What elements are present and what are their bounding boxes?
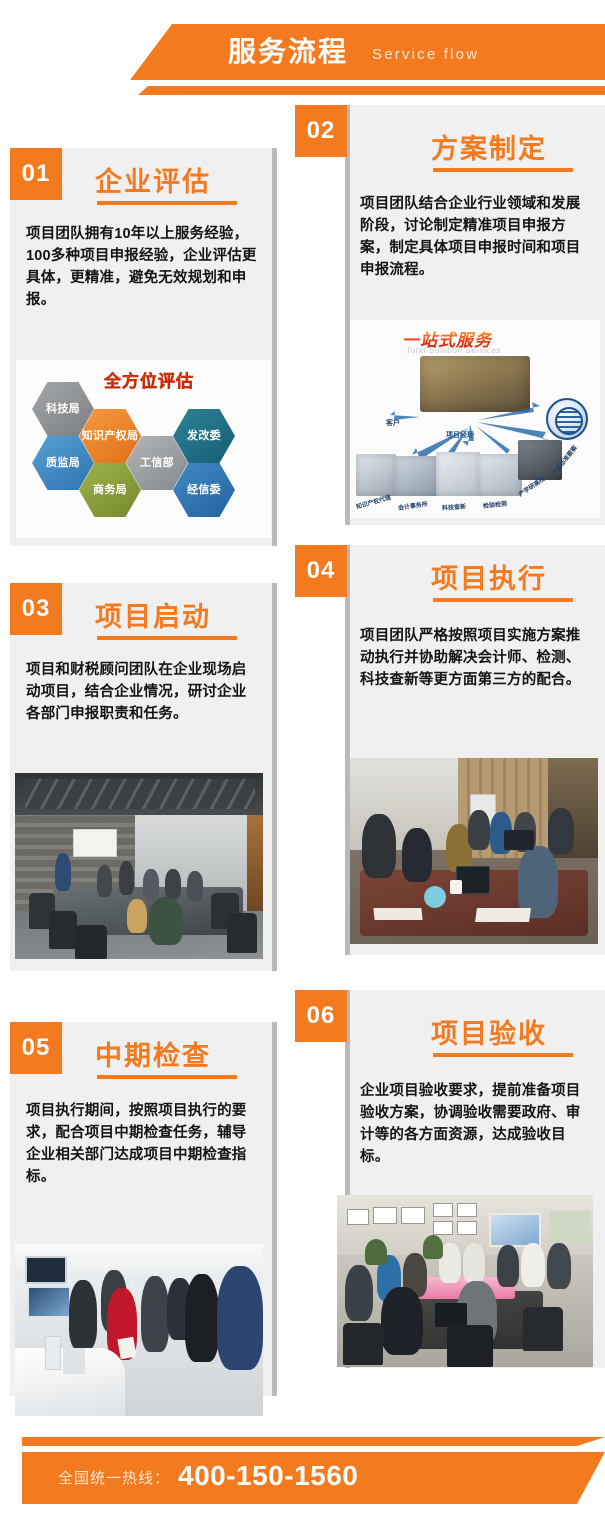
card-04-title-rule: [433, 598, 573, 602]
hex-node-keji-label: 科技局: [46, 403, 80, 415]
card-02-title-rule: [433, 168, 573, 172]
showroom-visit-photo: [15, 1244, 263, 1416]
footer-hotline-label: 全国统一热线：: [58, 1467, 170, 1488]
hex-node-fgw-label: 发改委: [187, 430, 221, 442]
page-title: 服务流程: [228, 33, 348, 71]
one-stop-node-standard-seal: [546, 398, 588, 440]
card-05-body: 项目执行期间，按照项目执行的要求，配合项目中期检查任务，辅导企业相关部门达成项目…: [26, 1100, 258, 1188]
card-02-number-badge: 02: [295, 105, 347, 157]
card-04: 04 项目执行 项目团队严格按照项目实施方案推动执行并协助解决会计师、检测、科技…: [295, 545, 605, 955]
one-stop-service-diagram: 一站式服务 Total Solution Services 客户 项目经理: [350, 320, 600, 518]
one-stop-node-accounting: [394, 456, 438, 496]
meeting-room-photo: [15, 773, 263, 959]
header-accent-rule: [138, 86, 605, 95]
card-06-body: 企业项目验收要求，提前准备项目验收方案，协调验收需要政府、审计等的各方面资源，达…: [360, 1080, 592, 1168]
card-01-title: 企业评估: [95, 160, 211, 199]
card-01-title-rule: [97, 201, 237, 205]
page-subtitle: Service flow: [372, 45, 479, 65]
card-06: 06 项目验收 企业项目验收要求，提前准备项目验收方案，协调验收需要政府、审计等…: [295, 990, 605, 1368]
hexagon-assessment-diagram: 全方位评估 科技局 知识产权局 质监局 商务局 工信部 发改委 经信委: [16, 360, 271, 538]
card-05-title: 中期检查: [95, 1034, 211, 1073]
card-02: 02 方案制定 项目团队结合企业行业领域和发展阶段，讨论制定精准项目申报方案，制…: [295, 105, 605, 525]
acceptance-meeting-photo: [337, 1195, 593, 1367]
footer-accent-rule: [22, 1437, 605, 1446]
card-01-number-badge: 01: [10, 148, 62, 200]
card-03: 03 项目启动 项目和财税顾问团队在企业现场启动项目，结合企业情况，研讨企业各部…: [10, 583, 282, 971]
hexagon-diagram-title: 全方位评估: [104, 367, 194, 392]
card-04-body: 项目团队严格按照项目实施方案推动执行并协助解决会计师、检测、科技查新等更方面第三…: [360, 625, 592, 691]
one-stop-node-testing: [478, 454, 522, 496]
card-02-title: 方案制定: [431, 127, 547, 166]
one-stop-branch-label-2: 科技查新: [442, 501, 467, 512]
card-01-body: 项目团队拥有10年以上服务经验，100多种项目申报经验，企业评估更具体，更精准，…: [26, 223, 258, 311]
card-05-title-rule: [97, 1075, 237, 1079]
footer-hotline-number[interactable]: 400-150-1560: [178, 1460, 358, 1492]
card-06-title-rule: [433, 1053, 573, 1057]
header-orange-band: [130, 24, 605, 80]
card-02-body: 项目团队结合企业行业领域和发展阶段，讨论制定精准项目申报方案，制定具体项目申报时…: [360, 193, 592, 281]
hex-node-zscq-label: 知识产权局: [82, 430, 139, 442]
card-03-title: 项目启动: [95, 595, 211, 634]
one-stop-node-search: [436, 452, 480, 496]
hex-node-swj-label: 商务局: [93, 484, 127, 496]
card-01: 01 企业评估 项目团队拥有10年以上服务经验，100多种项目申报经验，企业评估…: [10, 148, 282, 546]
page-header: 服务流程 Service flow: [0, 0, 605, 110]
card-06-title: 项目验收: [431, 1012, 547, 1051]
hex-node-jxw-label: 经信委: [187, 484, 221, 496]
card-03-title-rule: [97, 636, 237, 640]
card-05-number-badge: 05: [10, 1022, 62, 1074]
card-04-title: 项目执行: [431, 557, 547, 596]
card-03-number-badge: 03: [10, 583, 62, 635]
card-06-number-badge: 06: [295, 990, 347, 1042]
service-flow-infographic: 服务流程 Service flow 01 企业评估 项目团队拥有10年以上服务经…: [0, 0, 605, 1538]
working-session-photo: [350, 758, 598, 944]
hex-node-gxb-label: 工信部: [140, 457, 174, 469]
card-05: 05 中期检查 项目执行期间，按照项目执行的要求，配合项目中期检查任务，辅导企业…: [10, 1022, 282, 1396]
card-04-number-badge: 04: [295, 545, 347, 597]
card-03-body: 项目和财税顾问团队在企业现场启动项目，结合企业情况，研讨企业各部门申报职责和任务…: [26, 659, 258, 725]
one-stop-node-ip: [356, 454, 396, 496]
hex-node-zjj-label: 质监局: [46, 457, 80, 469]
